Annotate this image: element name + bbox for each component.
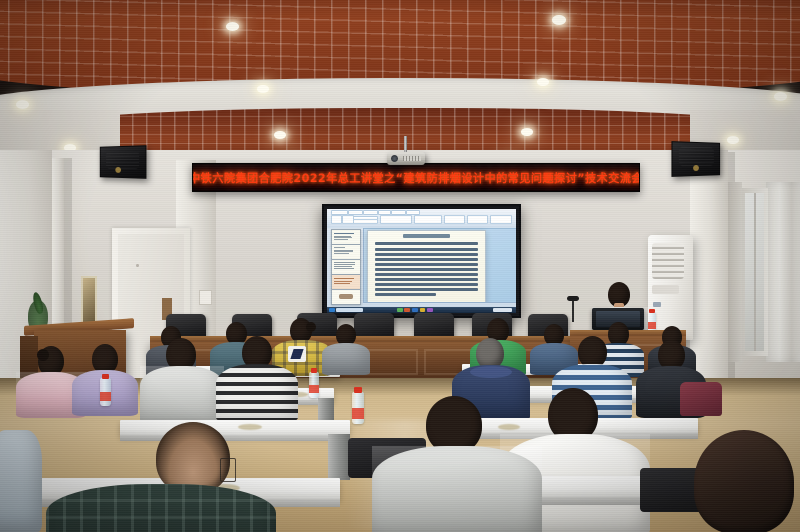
projection-screen[interactable]	[327, 209, 516, 313]
torso	[322, 343, 370, 375]
water-bottle[interactable]	[309, 372, 319, 398]
person-man-grey-left-rear	[322, 324, 370, 370]
projector-vent	[403, 156, 421, 161]
ppt-thumbnail[interactable]	[331, 289, 362, 304]
bottle-cap	[649, 309, 655, 313]
downlight	[727, 136, 739, 144]
ppt-thumbnail[interactable]	[331, 259, 362, 274]
shoulder-highlight	[372, 446, 542, 532]
head-longhair	[694, 430, 794, 532]
ppt-ribbon	[327, 209, 516, 229]
microphone-head	[567, 296, 579, 301]
projector-lens	[391, 155, 398, 162]
ac-display-panel[interactable]	[652, 285, 679, 293]
person-man-grey-foreground	[372, 396, 542, 532]
bottle-cap	[354, 387, 362, 393]
conference-hall-photo: 中铁六院集团合肥院2022年总工讲堂之“建筑防排烟设计中的常见问题探讨”技术交流…	[0, 0, 800, 532]
microphone-stand	[572, 300, 574, 322]
ceiling-speaker-right	[671, 141, 720, 177]
projection-screen-frame	[322, 204, 521, 318]
ac-brand-logo	[653, 302, 661, 307]
speaker-grille	[679, 147, 714, 166]
ppt-slide-thumbnail-pane[interactable]	[327, 228, 364, 307]
water-bottle[interactable]	[100, 378, 111, 406]
ppt-thumbnail[interactable]	[331, 244, 362, 259]
ceiling-speaker-left	[100, 145, 147, 179]
slide-title-bar	[403, 234, 450, 238]
speaker-grille	[106, 151, 140, 169]
hair-bun	[306, 322, 316, 332]
downlight	[552, 15, 566, 25]
bottle-cap	[311, 368, 317, 373]
water-bottle[interactable]	[352, 392, 364, 424]
door-peephole	[136, 264, 139, 267]
downlight	[257, 85, 269, 93]
downlight	[774, 92, 787, 101]
torso	[0, 430, 42, 532]
bottle-label	[352, 408, 364, 419]
ppt-thumbnail[interactable]	[331, 274, 362, 289]
ac-louvers	[652, 243, 684, 279]
desk-support	[328, 434, 350, 480]
hair-bun	[37, 349, 49, 361]
downlight	[537, 78, 549, 86]
backpack-red	[680, 382, 722, 416]
led-banner-text: 中铁六院集团合肥院2022年总工讲堂之“建筑防排烟设计中的常见问题探讨”技术交流…	[192, 170, 640, 186]
hood	[470, 366, 512, 378]
ppt-thumbnail[interactable]	[331, 229, 362, 244]
projector	[387, 152, 425, 165]
person-woman-longhair-right	[684, 430, 800, 532]
ppt-current-slide[interactable]	[367, 230, 486, 305]
window-curtain-right	[766, 182, 800, 362]
downlight	[226, 22, 239, 31]
downlight	[521, 128, 533, 136]
torso-striped	[216, 364, 298, 422]
person-man-plaid-foreground	[46, 428, 276, 532]
bottle-label	[309, 385, 319, 393]
torso-plaid-dark	[46, 484, 276, 532]
speaker-badge	[693, 165, 699, 171]
person-man-grey-tshirt	[140, 338, 224, 418]
bottle-cap	[102, 374, 109, 379]
bottle-label	[100, 392, 111, 401]
person-man-striped-tshirt	[216, 336, 298, 418]
wall-right-dark-return	[728, 182, 742, 362]
led-banner-board: 中铁六院集团合肥院2022年总工讲堂之“建筑防排烟设计中的常见问题探讨”技术交流…	[192, 163, 640, 192]
eyeglasses	[220, 458, 236, 482]
downlight	[274, 131, 286, 139]
window-mullion	[754, 193, 756, 351]
power-outlet[interactable]	[199, 290, 212, 305]
shoulder-highlight	[140, 366, 224, 424]
wall-art-panel	[81, 276, 97, 324]
downlight	[16, 100, 29, 109]
speaker-badge	[115, 167, 121, 173]
person-left-edge-partial	[0, 430, 42, 532]
